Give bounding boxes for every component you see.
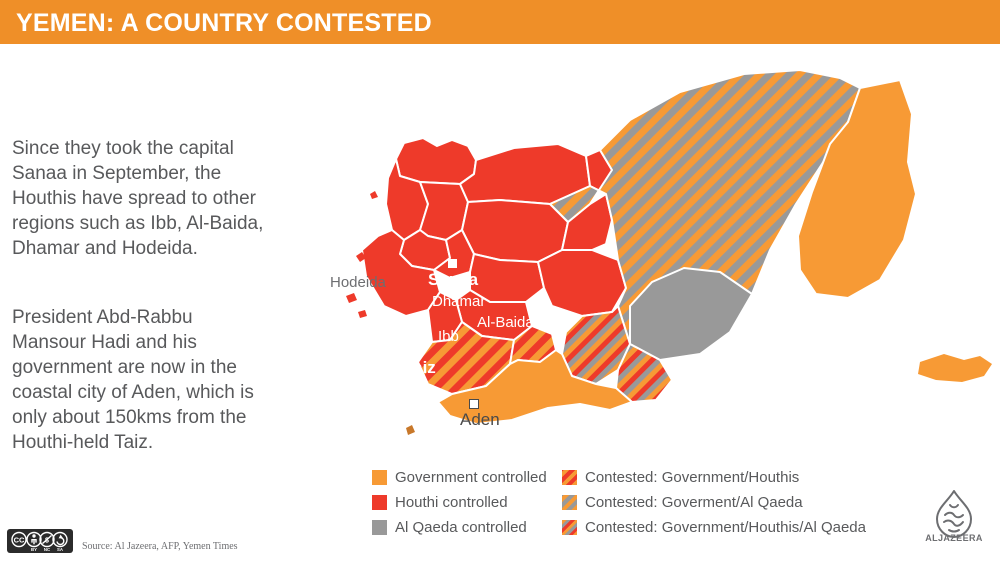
legend-label-government: Government controlled xyxy=(395,470,547,485)
city-marker-aden xyxy=(469,399,479,409)
legend-column-contested: Contested: Government/Houthis Contested:… xyxy=(562,466,866,541)
legend-swatch-contested-gov-houthis xyxy=(562,470,577,485)
legend-item-government: Government controlled xyxy=(372,466,547,488)
region-sanaa-gov xyxy=(462,200,568,262)
islet-perim xyxy=(406,425,415,435)
legend-item-houthi: Houthi controlled xyxy=(372,491,547,513)
creative-commons-badge: CC $ BY NC SA xyxy=(7,529,73,553)
svg-text:CC: CC xyxy=(14,536,25,545)
infographic-root: YEMEN: A COUNTRY CONTESTED Since they to… xyxy=(0,0,1000,562)
legend-label-houthi: Houthi controlled xyxy=(395,495,508,510)
legend-item-contested-gov-alqaeda: Contested: Goverment/Al Qaeda xyxy=(562,491,866,513)
map-svg xyxy=(300,44,1000,454)
header-bar: YEMEN: A COUNTRY CONTESTED xyxy=(0,0,1000,44)
yemen-map: Hodeida Sanaa Dhamar Ibb Al-Baida Taiz A… xyxy=(300,44,1000,454)
legend-item-contested-gov-houthis: Contested: Government/Houthis xyxy=(562,466,866,488)
legend-item-contested-triple: Contested: Government/Houthis/Al Qaeda xyxy=(562,516,866,538)
city-marker-sanaa xyxy=(448,259,457,268)
svg-text:SA: SA xyxy=(57,547,63,552)
legend-label-alqaeda: Al Qaeda controlled xyxy=(395,520,527,535)
page-title: YEMEN: A COUNTRY CONTESTED xyxy=(16,9,432,38)
aljazeera-wordmark: ALJAZEERA xyxy=(921,533,987,543)
legend-column-controlled: Government controlled Houthi controlled … xyxy=(372,466,547,541)
legend-swatch-houthi xyxy=(372,495,387,510)
region-al-baida xyxy=(538,250,626,316)
legend-item-alqaeda: Al Qaeda controlled xyxy=(372,516,547,538)
svg-text:BY: BY xyxy=(31,547,37,552)
source-attribution: Source: Al Jazeera, AFP, Yemen Times xyxy=(82,541,238,552)
region-dhamar xyxy=(470,254,544,302)
city-marker-taiz xyxy=(412,377,421,386)
region-socotra xyxy=(918,354,992,382)
intro-text: Since they took the capital Sanaa in Sep… xyxy=(12,136,270,455)
intro-paragraph-1: Since they took the capital Sanaa in Sep… xyxy=(12,136,270,261)
intro-paragraph-2: President Abd-Rabbu Mansour Hadi and his… xyxy=(12,305,270,455)
svg-text:NC: NC xyxy=(44,547,50,552)
legend-label-contested-gov-alqaeda: Contested: Goverment/Al Qaeda xyxy=(585,495,803,510)
legend-label-contested-gov-houthis: Contested: Government/Houthis xyxy=(585,470,799,485)
legend-label-contested-triple: Contested: Government/Houthis/Al Qaeda xyxy=(585,520,866,535)
legend-swatch-alqaeda xyxy=(372,520,387,535)
cc-badge-svg: CC $ BY NC SA xyxy=(7,529,73,553)
legend-swatch-contested-gov-alqaeda xyxy=(562,495,577,510)
legend-swatch-contested-triple xyxy=(562,520,577,535)
legend-swatch-government xyxy=(372,470,387,485)
region-saada xyxy=(396,138,476,184)
